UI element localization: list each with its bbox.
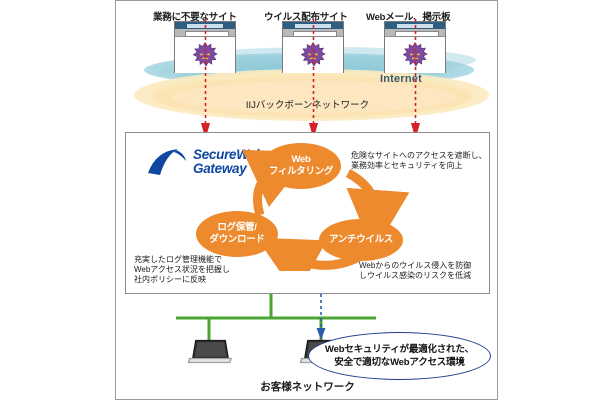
- description-filtering-line2: 業務効率とセキュリティを向上: [351, 161, 487, 171]
- swoosh-icon: [146, 145, 194, 179]
- description-antivirus-line1: Webからのウイルス侵入を防御: [359, 261, 471, 271]
- label-backbone-network: IIJバックボーンネットワーク: [116, 97, 498, 111]
- description-antivirus-line2: しウイルス感染のリスクを低減: [359, 271, 471, 281]
- node-log-download-line1: ログ保管/: [217, 222, 256, 234]
- description-logging-line1: 充実したログ管理機能で: [134, 255, 230, 265]
- description-logging-line2: Webアクセス状況を把握し: [134, 265, 230, 275]
- arrow-down-site-virus: [309, 19, 318, 141]
- laptop-icon: [186, 338, 232, 368]
- diagram-frame: 業務に不要なサイト ウイルス配布サイト Webメール、掲示板: [115, 0, 498, 400]
- diagram-canvas: 業務に不要なサイト ウイルス配布サイト Webメール、掲示板: [0, 0, 610, 400]
- description-logging: 充実したログ管理機能で Webアクセス状況を把握し 社内ポリシーに反映: [134, 255, 230, 285]
- arrow-down-secure-access: [316, 294, 326, 342]
- node-log-download-line2: ダウンロード: [209, 234, 264, 246]
- description-filtering-line1: 危険なサイトへのアクセスを遮断し、: [351, 151, 487, 161]
- node-anti-virus[interactable]: アンチウイルス: [319, 219, 403, 261]
- node-web-filtering[interactable]: Web フィルタリング: [261, 143, 341, 189]
- node-anti-virus-line1: アンチウイルス: [329, 234, 393, 246]
- description-filtering: 危険なサイトへのアクセスを遮断し、 業務効率とセキュリティを向上: [351, 151, 487, 171]
- callout-secure-web-access: Webセキュリティが最適化された、 安全で適切なWebアクセス環境: [308, 332, 491, 380]
- arrow-down-site-webmail: [411, 19, 420, 141]
- node-log-download[interactable]: ログ保管/ ダウンロード: [196, 211, 278, 257]
- node-web-filtering-line1: Web: [292, 154, 311, 166]
- arrow-down-site-unneeded: [201, 19, 210, 141]
- label-customer-network: お客様ネットワーク: [116, 379, 498, 394]
- callout-line2: 安全で適切なWebアクセス環境: [334, 356, 464, 369]
- description-antivirus: Webからのウイルス侵入を防御 しウイルス感染のリスクを低減: [359, 261, 471, 281]
- node-web-filtering-line2: フィルタリング: [269, 166, 333, 178]
- description-logging-line3: 社内ポリシーに反映: [134, 275, 230, 285]
- callout-line1: Webセキュリティが最適化された、: [325, 343, 474, 356]
- service-panel: SecureWeb Gateway Web: [125, 132, 490, 294]
